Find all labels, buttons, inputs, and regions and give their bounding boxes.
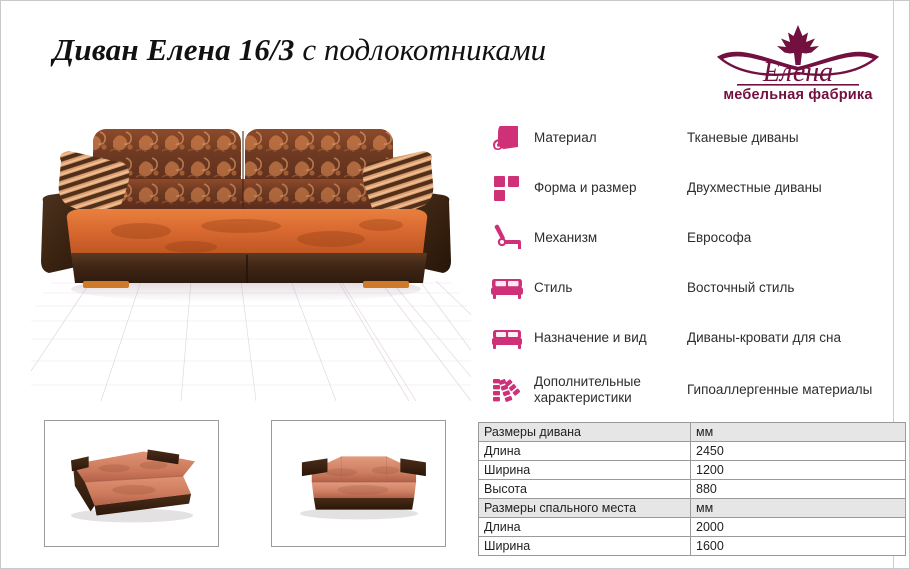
table-cell-value: мм <box>691 423 906 442</box>
table-cell-name: Длина <box>479 518 691 537</box>
sofa-icon <box>490 271 524 305</box>
shape-blocks-icon <box>490 171 524 205</box>
page-title-model: Диван Елена 16/3 <box>53 32 295 67</box>
spec-value: Диваны-кровати для сна <box>687 330 892 346</box>
dimensions-table: Размеры дивана мм Длина 2450 Ширина 1200… <box>478 422 906 556</box>
recliner-icon <box>490 221 524 255</box>
table-cell-name: Высота <box>479 480 691 499</box>
spec-label: Материал <box>534 130 684 146</box>
color-fan-icon <box>490 373 524 407</box>
spec-label: Назначение и вид <box>534 330 684 346</box>
spec-row-material: Материал Тканевые диваны <box>490 113 890 163</box>
table-cell-value: мм <box>691 499 906 518</box>
table-row: Длина 2450 <box>479 442 906 461</box>
spec-value: Двухместные диваны <box>687 180 892 196</box>
product-thumbnail-2[interactable] <box>271 420 446 547</box>
brand-logo: Елена мебельная фабрика <box>707 19 889 103</box>
spec-row-purpose: Назначение и вид Диваны-кровати для сна <box>490 313 890 363</box>
table-cell-name: Размеры спального места <box>479 499 691 518</box>
page-title: Диван Елена 16/3 с подлокотниками <box>53 27 693 73</box>
table-cell-value: 1600 <box>691 537 906 556</box>
spec-label: Стиль <box>534 280 684 296</box>
spec-row-style: Стиль Восточный стиль <box>490 263 890 313</box>
table-cell-name: Ширина <box>479 461 691 480</box>
table-row-header: Размеры дивана мм <box>479 423 906 442</box>
spec-row-additional: Дополнительные характеристики Гипоаллерг… <box>490 363 890 417</box>
spec-value: Тканевые диваны <box>687 130 892 146</box>
product-page: Диван Елена 16/3 с подлокотниками Елена … <box>0 0 910 569</box>
table-cell-name: Ширина <box>479 537 691 556</box>
table-row: Ширина 1600 <box>479 537 906 556</box>
specification-list: Материал Тканевые диваны Форма и размер … <box>490 113 890 417</box>
table-cell-value: 880 <box>691 480 906 499</box>
table-cell-name: Размеры дивана <box>479 423 691 442</box>
logo-brand-text: Елена <box>762 57 833 88</box>
table-row: Длина 2000 <box>479 518 906 537</box>
table-cell-name: Длина <box>479 442 691 461</box>
spec-value: Гипоаллергенные материалы <box>687 382 892 398</box>
logo-tagline-text: мебельная фабрика <box>723 87 873 103</box>
table-row: Ширина 1200 <box>479 461 906 480</box>
table-cell-value: 2450 <box>691 442 906 461</box>
table-row: Высота 880 <box>479 480 906 499</box>
fabric-swatch-icon <box>490 121 524 155</box>
product-thumbnail-1[interactable] <box>44 420 219 547</box>
spec-label: Форма и размер <box>534 180 684 196</box>
spec-row-shape-size: Форма и размер Двухместные диваны <box>490 163 890 213</box>
product-main-image[interactable] <box>31 101 471 401</box>
spec-value: Еврософа <box>687 230 892 246</box>
page-title-suffix: с подлокотниками <box>295 32 547 67</box>
spec-row-mechanism: Механизм Еврософа <box>490 213 890 263</box>
spec-label: Механизм <box>534 230 684 246</box>
table-cell-value: 1200 <box>691 461 906 480</box>
spec-label: Дополнительные характеристики <box>534 374 684 406</box>
table-cell-value: 2000 <box>691 518 906 537</box>
bed-icon <box>490 321 524 355</box>
table-row-header: Размеры спального места мм <box>479 499 906 518</box>
sofa-illustration <box>41 129 451 288</box>
spec-value: Восточный стиль <box>687 280 892 296</box>
